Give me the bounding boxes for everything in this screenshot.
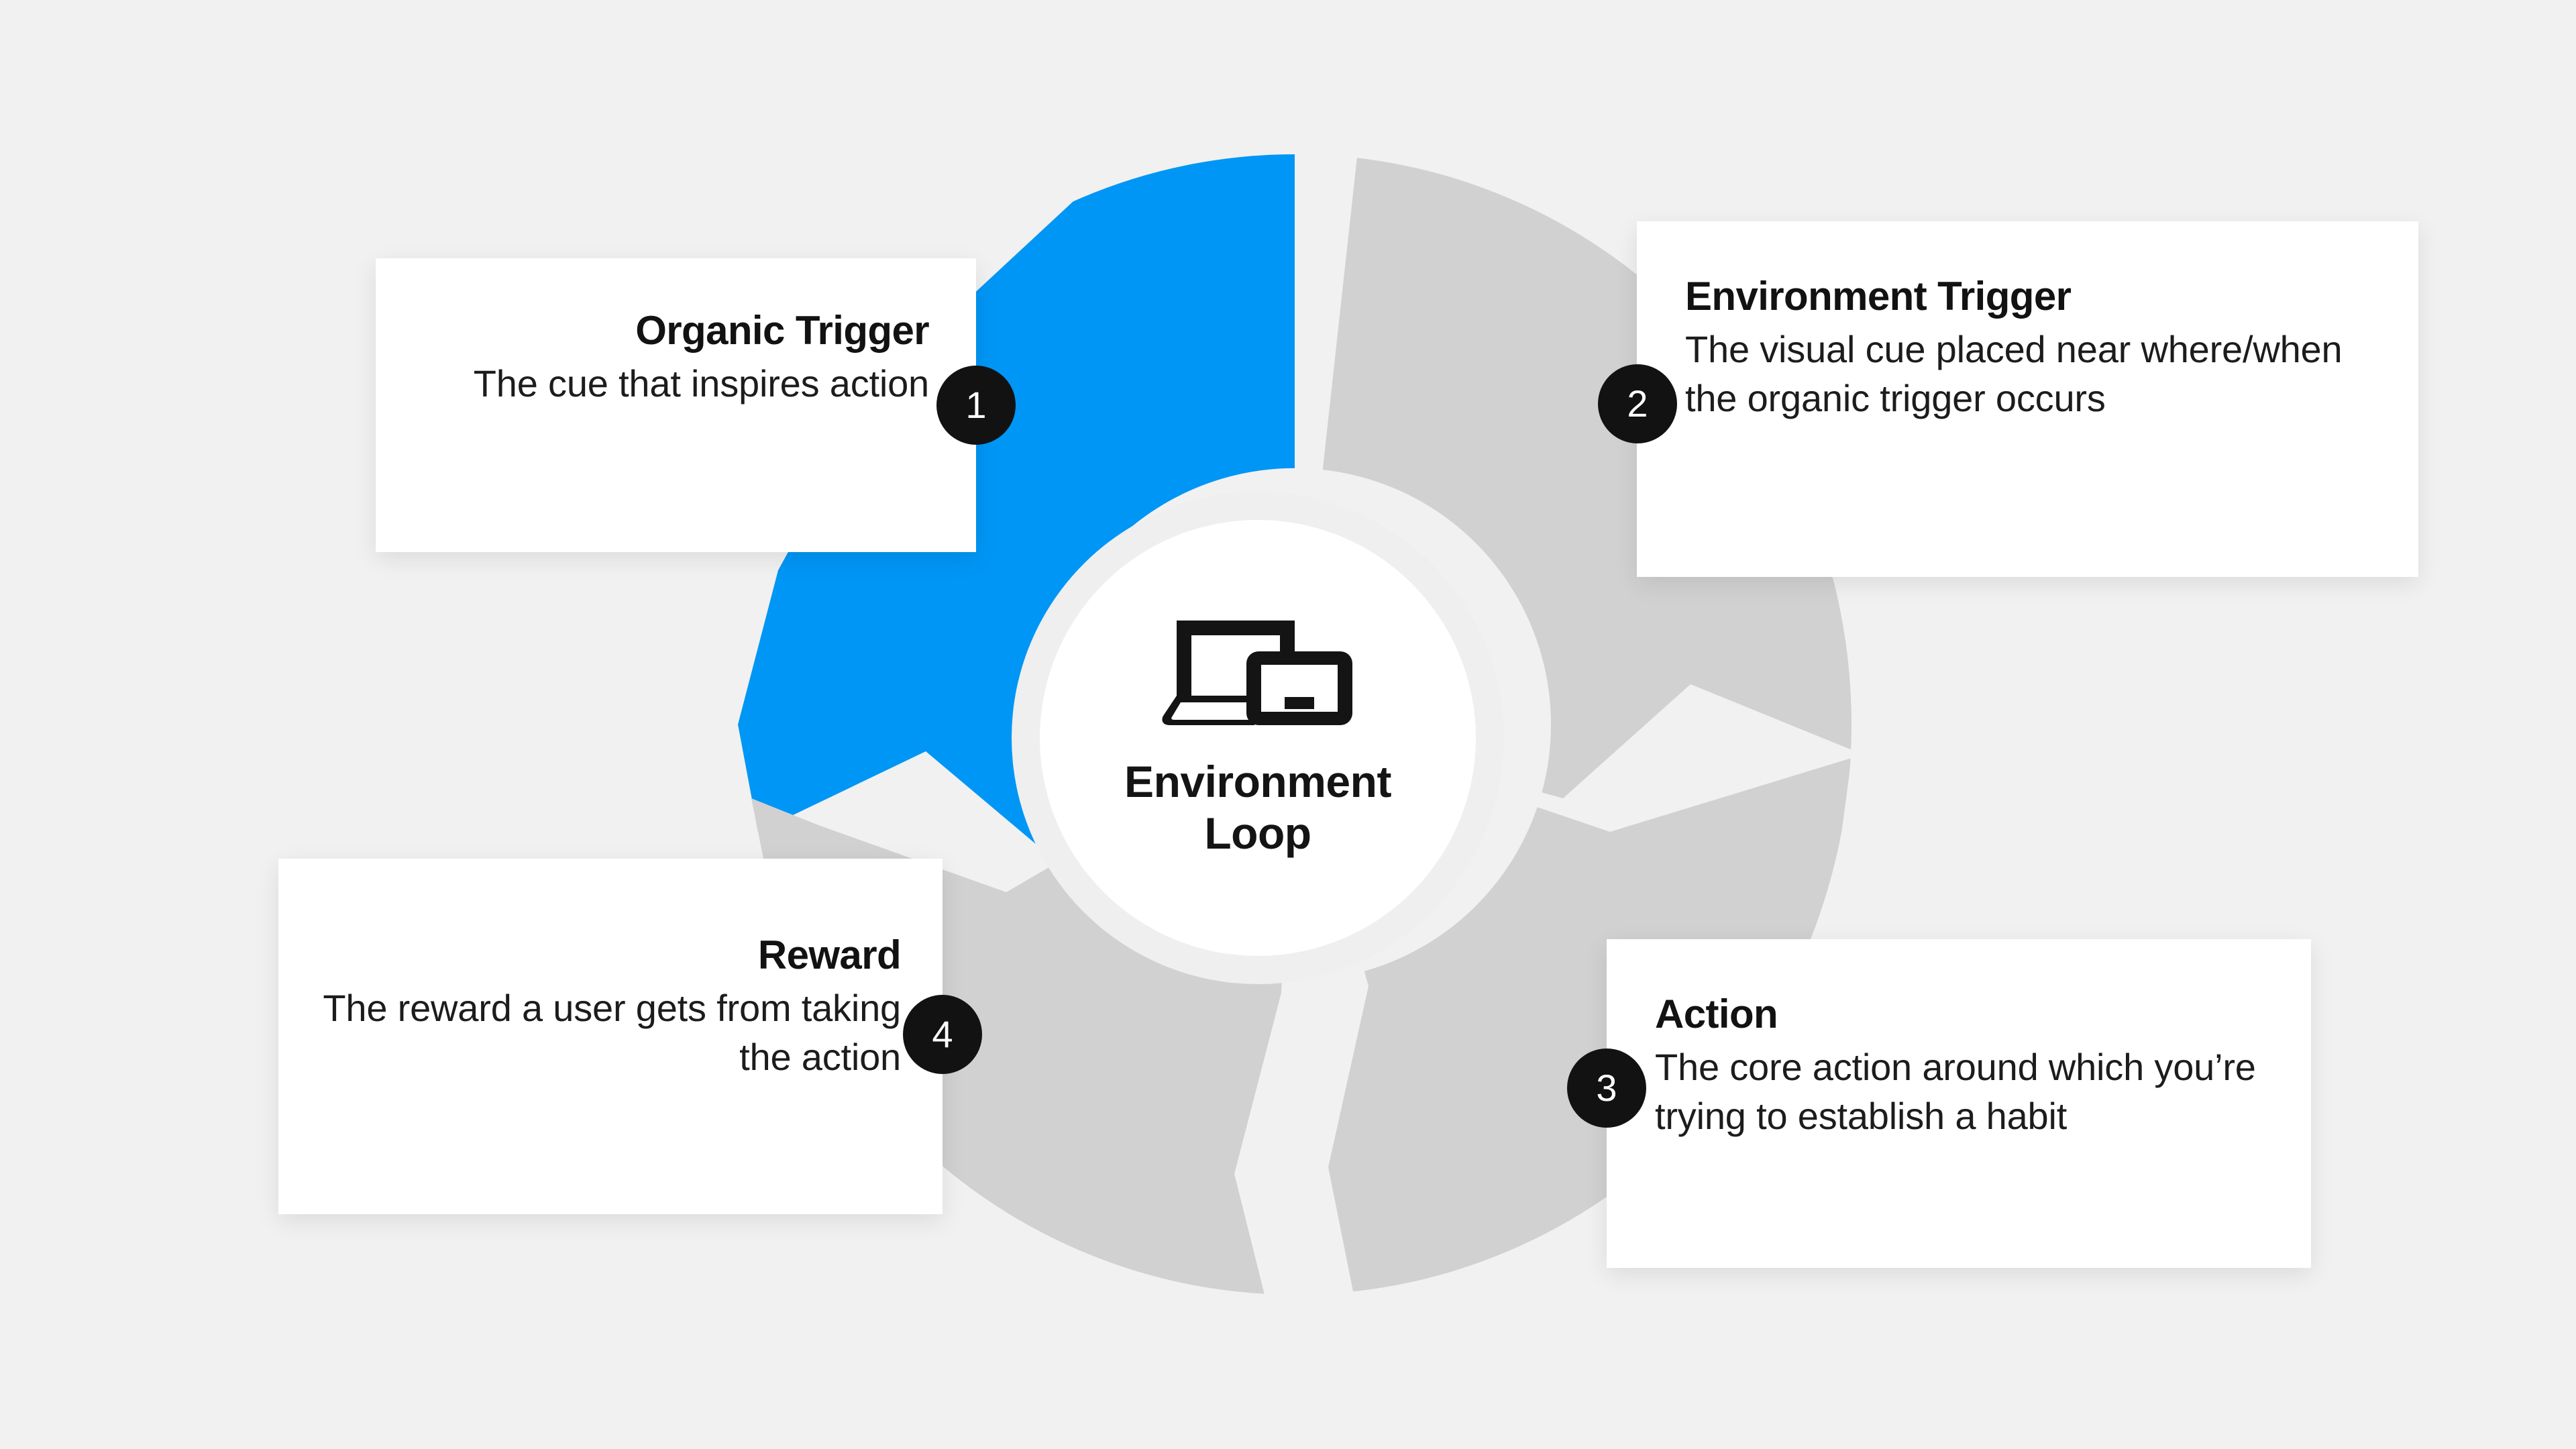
hub-label: Environment Loop	[1124, 756, 1391, 859]
step-badge-1: 1	[936, 366, 1016, 445]
step-badge-4: 4	[903, 995, 982, 1074]
hub-label-line2: Loop	[1204, 808, 1311, 858]
step-badge-3: 3	[1567, 1049, 1646, 1128]
card-description: The core action around which you’re tryi…	[1655, 1043, 2271, 1141]
card-description: The reward a user gets from taking the a…	[319, 984, 901, 1082]
card-description: The cue that inspires action	[423, 360, 929, 409]
card-organic-trigger[interactable]: Organic Trigger The cue that inspires ac…	[376, 258, 976, 552]
card-reward[interactable]: Reward The reward a user gets from takin…	[278, 859, 943, 1214]
center-hub: Environment Loop	[1040, 520, 1476, 956]
laptop-and-tablet-icon	[1161, 616, 1355, 744]
card-environment-trigger[interactable]: Environment Trigger The visual cue place…	[1637, 221, 2418, 577]
card-description: The visual cue placed near where/when th…	[1685, 325, 2371, 423]
card-title: Organic Trigger	[423, 308, 929, 353]
card-title: Reward	[319, 932, 901, 977]
diagram-canvas: Environment Loop Organic Trigger The cue…	[0, 0, 2576, 1449]
step-badge-2: 2	[1598, 364, 1677, 443]
hub-label-line1: Environment	[1124, 757, 1391, 806]
card-title: Environment Trigger	[1685, 274, 2371, 319]
card-title: Action	[1655, 991, 2271, 1036]
card-action[interactable]: Action The core action around which you’…	[1607, 939, 2311, 1268]
